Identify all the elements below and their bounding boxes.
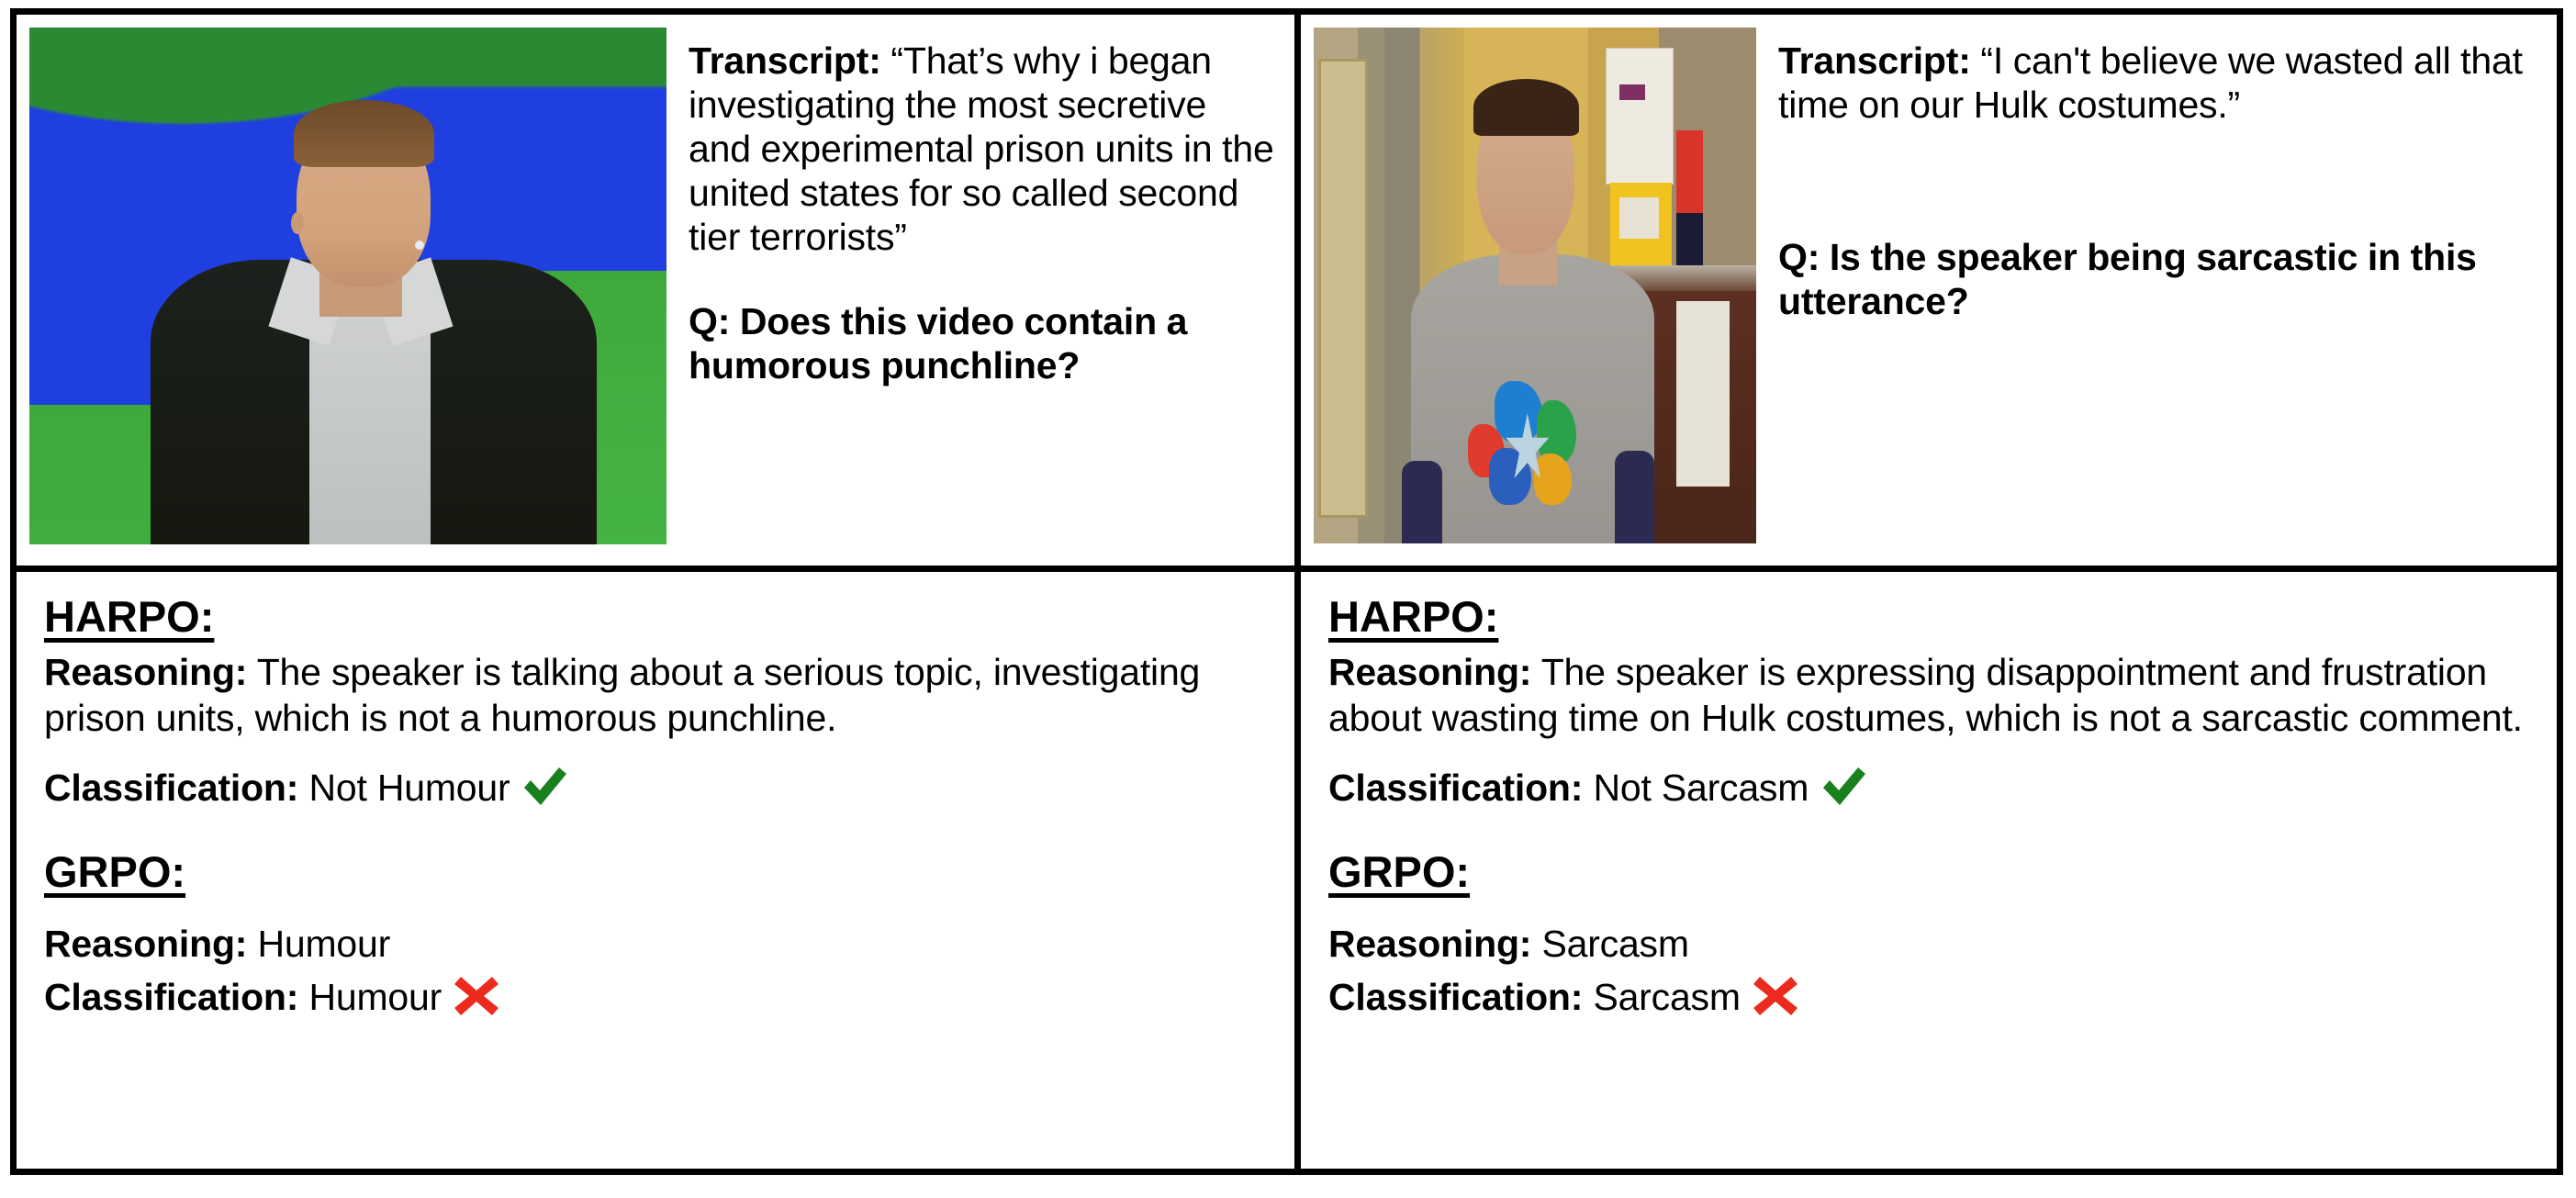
reasoning-grpo-right: Reasoning: Sarcasm bbox=[1328, 921, 2533, 967]
transcript-right: Transcript: “I can't believe we wasted a… bbox=[1778, 39, 2537, 127]
method-name-grpo-left: GRPO: bbox=[44, 847, 185, 897]
reasoning-label-grpo-left: Reasoning: bbox=[44, 923, 247, 965]
classification-value-grpo-left: Humour bbox=[308, 976, 442, 1018]
classification-grpo-left: Classification: Humour bbox=[44, 974, 1271, 1020]
method-name-grpo-right: GRPO: bbox=[1328, 847, 1470, 897]
reasoning-text-grpo-right: Sarcasm bbox=[1541, 923, 1688, 965]
reasoning-text-grpo-left: Humour bbox=[257, 923, 390, 965]
classification-label-grpo-right: Classification: bbox=[1328, 976, 1583, 1018]
red-cross-icon bbox=[1752, 975, 1799, 1017]
reasoning-label-grpo-right: Reasoning: bbox=[1328, 923, 1531, 965]
vertical-divider bbox=[1294, 15, 1301, 1169]
classification-harpo-right: Classification: Not Sarcasm bbox=[1328, 765, 2533, 811]
method-name-harpo-left: HARPO: bbox=[44, 592, 214, 642]
question-right: Q: Is the speaker being sarcastic in thi… bbox=[1778, 235, 2537, 323]
question-left: Q: Does this video contain a humorous pu… bbox=[689, 299, 1274, 387]
example-right-stimulus-cell: Transcript: “I can't believe we wasted a… bbox=[1301, 15, 2557, 565]
reasoning-grpo-left: Reasoning: Humour bbox=[44, 921, 1271, 967]
video-thumbnail-right bbox=[1314, 28, 1756, 543]
reasoning-label-harpo-right: Reasoning: bbox=[1328, 651, 1531, 693]
green-check-icon bbox=[521, 766, 568, 808]
method-block-harpo-right: HARPO: Reasoning: The speaker is express… bbox=[1328, 592, 2533, 811]
example-left-stimulus-cell: Transcript: “That’s why i began investig… bbox=[17, 15, 1294, 565]
green-check-icon bbox=[1820, 766, 1867, 808]
transcript-left: Transcript: “That’s why i began investig… bbox=[689, 39, 1274, 259]
stimulus-text-right: Transcript: “I can't believe we wasted a… bbox=[1756, 28, 2557, 323]
red-cross-icon bbox=[453, 975, 500, 1017]
classification-label-harpo-left: Classification: bbox=[44, 767, 298, 809]
horizontal-divider bbox=[17, 565, 2557, 572]
comparison-figure: Transcript: “That’s why i began investig… bbox=[0, 0, 2576, 1198]
classification-grpo-right: Classification: Sarcasm bbox=[1328, 974, 2533, 1020]
reasoning-harpo-right: Reasoning: The speaker is expressing dis… bbox=[1328, 649, 2533, 741]
method-block-grpo-right: GRPO: Reasoning: Sarcasm Classification:… bbox=[1328, 847, 2533, 1020]
method-name-harpo-right: HARPO: bbox=[1328, 592, 1498, 642]
method-block-grpo-left: GRPO: Reasoning: Humour Classification: … bbox=[44, 847, 1271, 1020]
classification-label-harpo-right: Classification: bbox=[1328, 767, 1583, 809]
figure-grid: Transcript: “That’s why i began investig… bbox=[17, 15, 2557, 1169]
classification-value-harpo-right: Not Sarcasm bbox=[1593, 767, 1809, 809]
method-block-harpo-left: HARPO: Reasoning: The speaker is talking… bbox=[44, 592, 1271, 811]
transcript-label-right: Transcript: bbox=[1778, 39, 1971, 82]
reasoning-harpo-left: Reasoning: The speaker is talking about … bbox=[44, 649, 1271, 741]
example-left-results-cell: HARPO: Reasoning: The speaker is talking… bbox=[17, 572, 1294, 1169]
example-right-results-cell: HARPO: Reasoning: The speaker is express… bbox=[1301, 572, 2557, 1169]
classification-harpo-left: Classification: Not Humour bbox=[44, 765, 1271, 811]
classification-value-grpo-right: Sarcasm bbox=[1593, 976, 1740, 1018]
classification-value-harpo-left: Not Humour bbox=[308, 767, 510, 809]
classification-label-grpo-left: Classification: bbox=[44, 976, 298, 1018]
video-thumbnail-left bbox=[29, 28, 666, 544]
transcript-label-left: Transcript: bbox=[689, 39, 881, 82]
stimulus-text-left: Transcript: “That’s why i began investig… bbox=[666, 28, 1294, 387]
reasoning-label-harpo-left: Reasoning: bbox=[44, 651, 247, 693]
